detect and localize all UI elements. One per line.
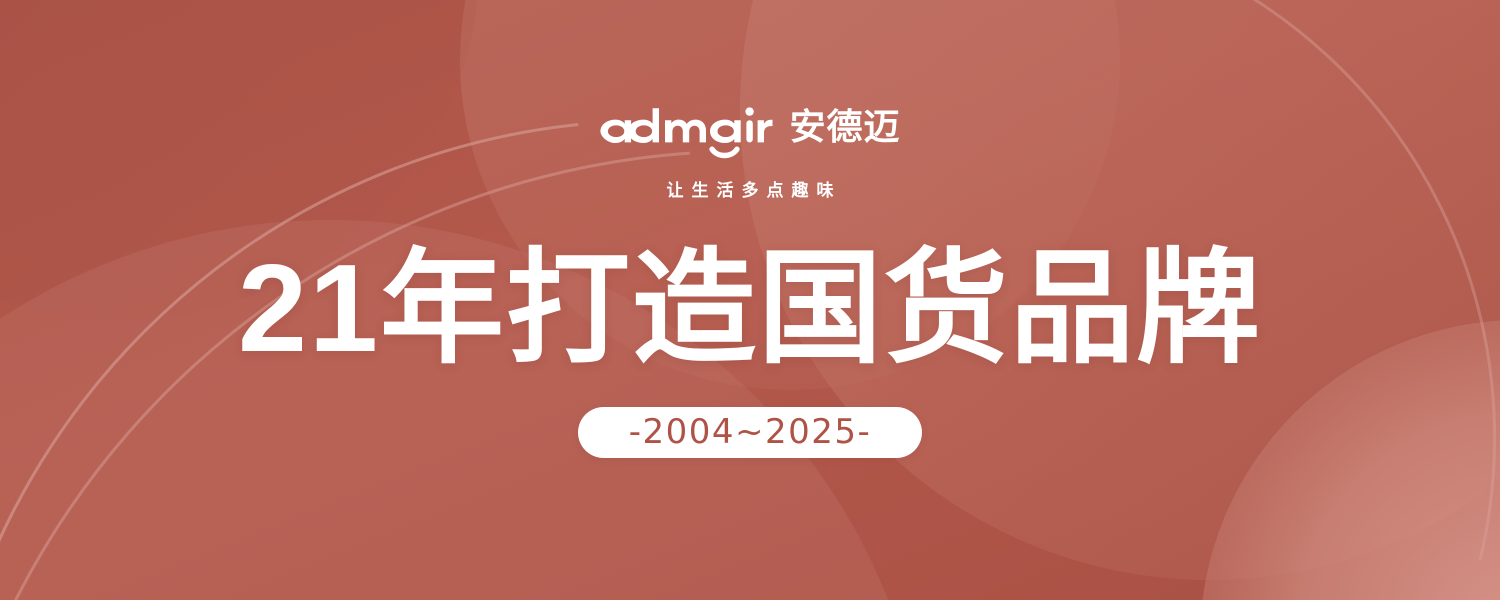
admair-wordmark xyxy=(599,104,775,160)
admair-smile-icon xyxy=(712,149,737,155)
brand-tagline: 让生活多点趣味 xyxy=(659,182,842,199)
logo-chinese-name: 安德迈 xyxy=(789,109,900,145)
logo-lockup: 安德迈 xyxy=(599,104,900,160)
date-range-text: -2004~2025- xyxy=(629,415,872,449)
date-range-badge: -2004~2025- xyxy=(578,407,922,458)
banner-content: 安德迈 让生活多点趣味 21年打造国货品牌 -2004~2025- xyxy=(0,0,1500,600)
letter-i-dot xyxy=(746,107,754,115)
promo-banner: 安德迈 让生活多点趣味 21年打造国货品牌 -2004~2025- xyxy=(0,0,1500,600)
headline: 21年打造国货品牌 xyxy=(238,243,1262,377)
